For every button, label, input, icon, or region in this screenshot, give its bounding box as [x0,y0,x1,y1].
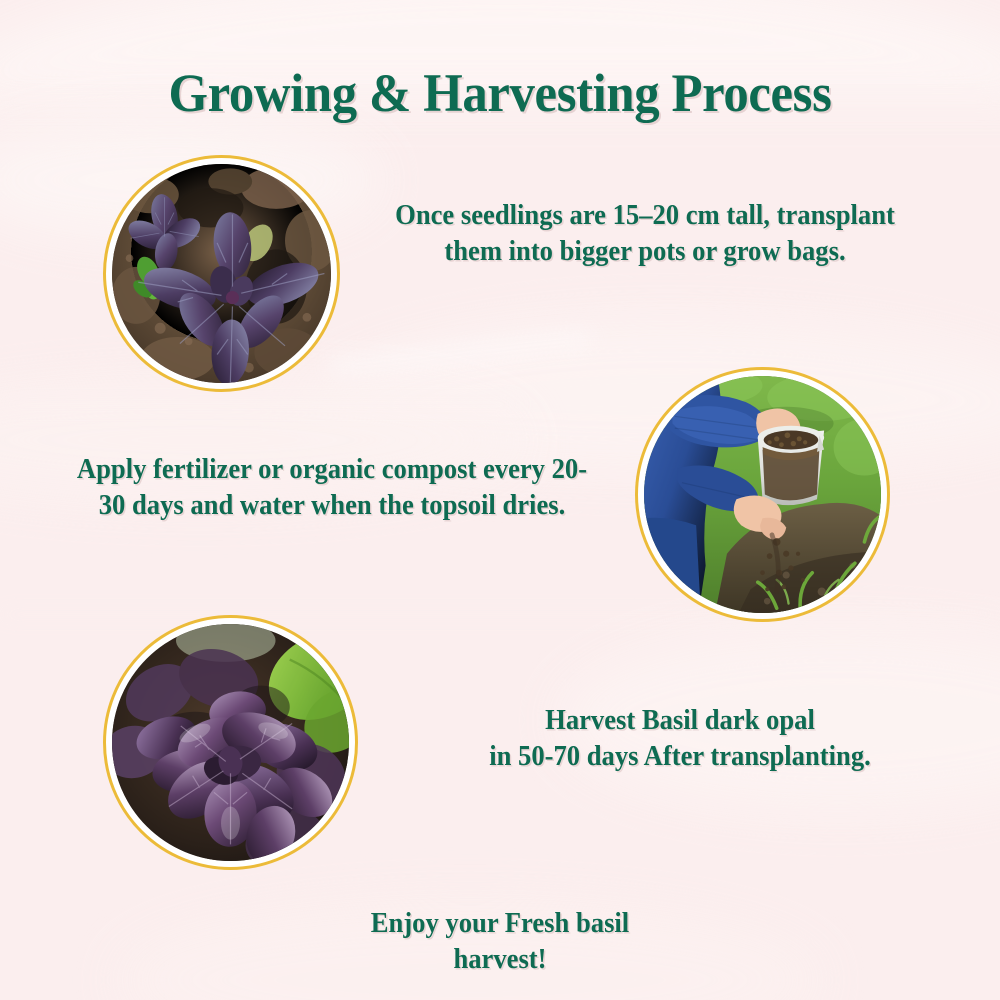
background-streak-2 [0,402,520,407]
background-streak-4 [0,612,1000,617]
seedling-illustration [112,164,331,383]
composting-illustration [644,376,881,613]
page-title: Growing & Harvesting Process [30,62,970,124]
step-transplant-text: Once seedlings are 15–20 cm tall, transp… [393,198,897,270]
purple-basil-seedling-photo [103,155,340,392]
compost-bucket [758,426,824,505]
photo-disc [112,164,331,383]
hand-spreading-compost-photo [635,367,890,622]
background-streak-3 [330,332,590,373]
step-fertilize-text: Apply fertilizer or organic compost ever… [76,452,589,524]
step-harvest-text: Harvest Basil dark opalin 50-70 days Aft… [433,703,927,775]
mature-basil-illustration [112,624,349,861]
photo-disc [644,376,881,613]
photo-disc [112,624,349,861]
footer-text: Enjoy your Fresh basilharvest! [301,906,700,978]
infographic-poster: Growing & Harvesting Process [0,0,1000,1000]
mature-purple-basil-photo [103,615,358,870]
